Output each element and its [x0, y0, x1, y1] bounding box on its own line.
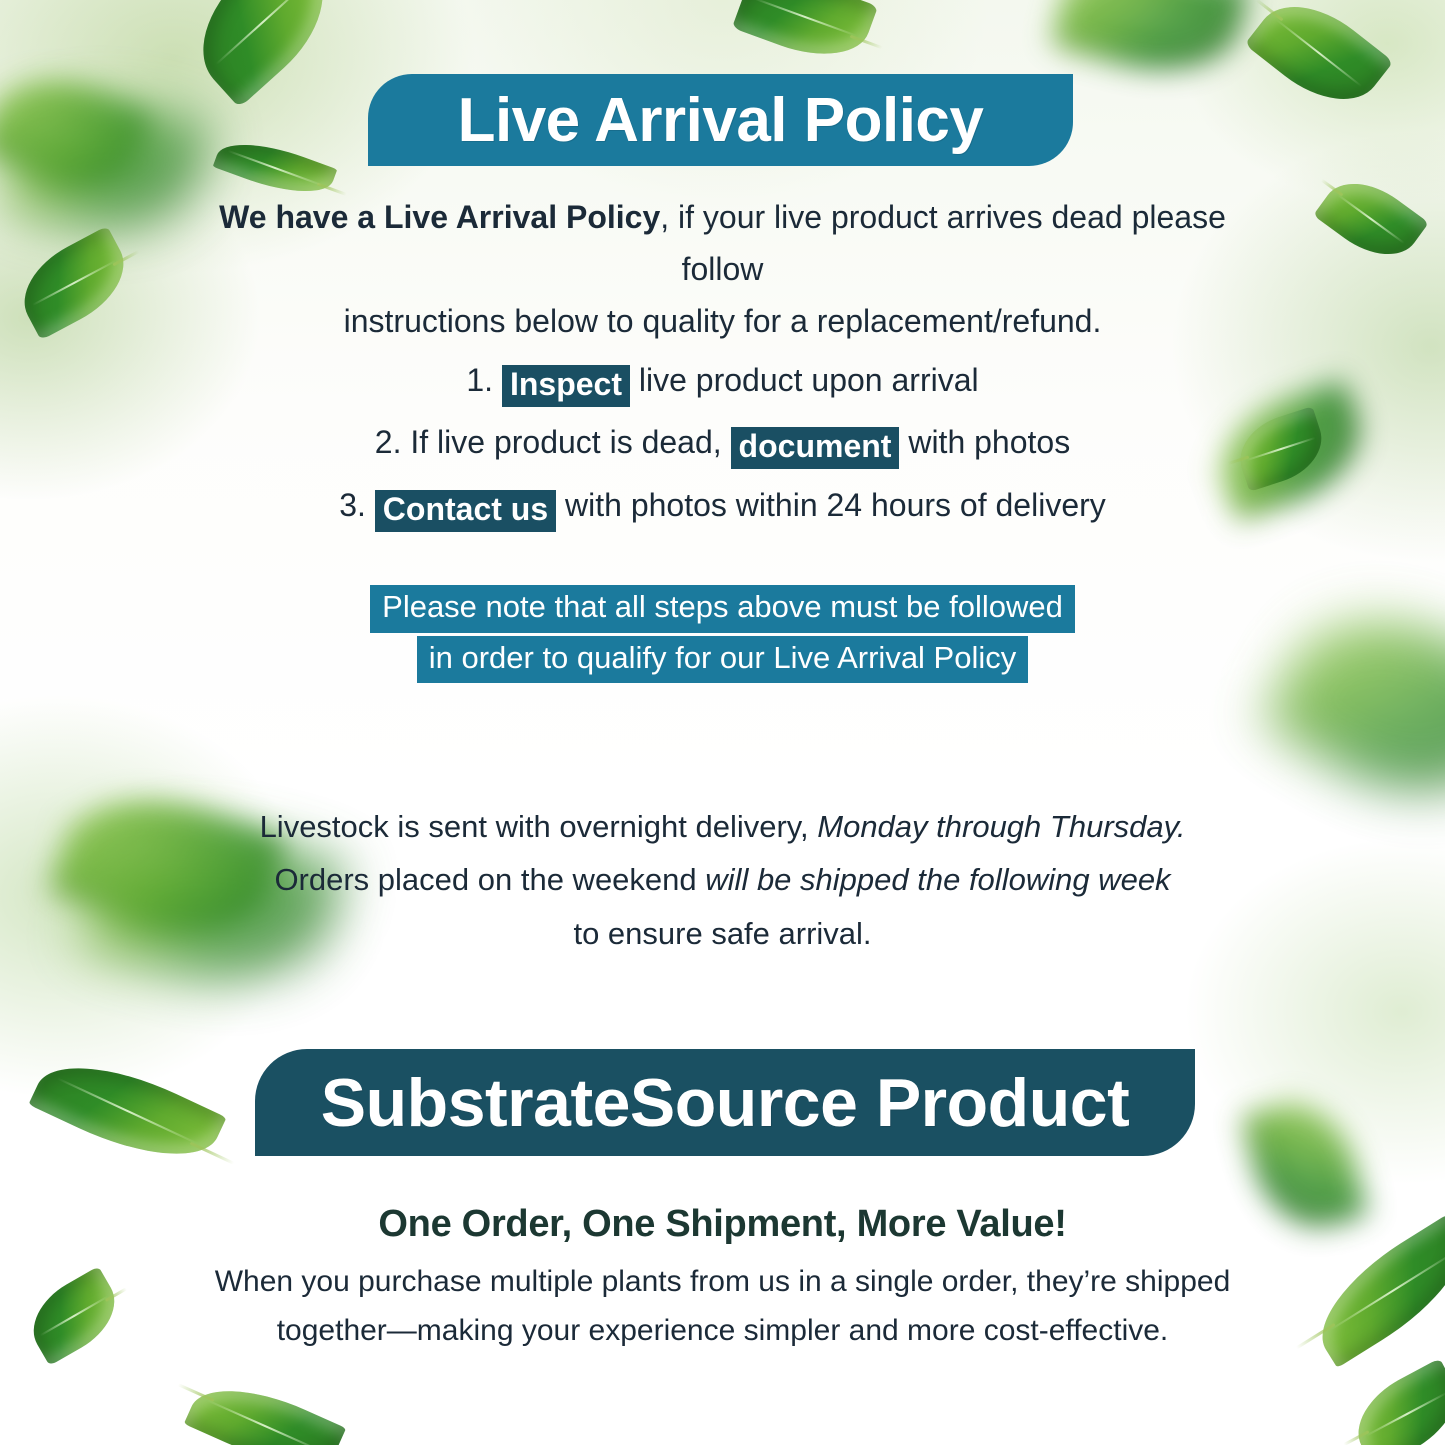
livestock-line-2-text: Orders placed on the weekend [274, 862, 696, 897]
live-arrival-policy-banner: Live Arrival Policy [368, 74, 1073, 166]
livestock-line-1-italic: Monday through Thursday. [817, 809, 1185, 844]
livestock-line-1: Livestock is sent with overnight deliver… [215, 800, 1230, 853]
step-1-number: 1. [466, 362, 493, 398]
intro-line-1-rest: , if your live product arrives dead plea… [660, 199, 1226, 287]
promo-graphic: Live Arrival Policy We have a Live Arriv… [0, 0, 1445, 1445]
value-subheading: One Order, One Shipment, More Value! [0, 1194, 1445, 1256]
list-item: 3. Contact us with photos within 24 hour… [0, 474, 1445, 536]
livestock-line-1-text: Livestock is sent with overnight deliver… [260, 809, 809, 844]
step-2-before: If live product is dead, [410, 424, 721, 460]
step-3-number: 3. [339, 487, 366, 523]
intro-line-1: We have a Live Arrival Policy, if your l… [180, 192, 1265, 296]
note-line-2: in order to qualify for our Live Arrival… [417, 636, 1029, 684]
step-3-text: with photos within 24 hours of delivery [565, 487, 1106, 523]
substratesource-product-banner: SubstrateSource Product [255, 1049, 1195, 1156]
livestock-shipping-paragraph: Livestock is sent with overnight deliver… [0, 800, 1445, 960]
livestock-line-3: to ensure safe arrival. [215, 907, 1230, 960]
livestock-line-2-italic: will be shipped the following week [705, 862, 1170, 897]
closing-line-1: When you purchase multiple plants from u… [170, 1258, 1275, 1307]
list-item: 2. If live product is dead, document wit… [0, 411, 1445, 473]
step-3-highlight: Contact us [375, 490, 556, 532]
intro-paragraph: We have a Live Arrival Policy, if your l… [0, 192, 1445, 347]
steps-list: 1. Inspect live product upon arrival 2. … [0, 349, 1445, 536]
step-2-number: 2. [375, 424, 402, 460]
step-2-highlight: document [731, 427, 900, 469]
step-1-text: live product upon arrival [639, 362, 979, 398]
note-line-1: Please note that all steps above must be… [370, 585, 1075, 633]
step-2-text: with photos [908, 424, 1070, 460]
intro-bold-phrase: We have a Live Arrival Policy [219, 199, 660, 235]
closing-line-2: together—making your experience simpler … [170, 1307, 1275, 1356]
intro-line-2: instructions below to quality for a repl… [180, 296, 1265, 348]
livestock-line-2: Orders placed on the weekend will be shi… [215, 853, 1230, 906]
live-arrival-policy-title: Live Arrival Policy [458, 85, 984, 156]
substratesource-product-title: SubstrateSource Product [321, 1064, 1129, 1142]
step-1-highlight: Inspect [502, 365, 630, 407]
list-item: 1. Inspect live product upon arrival [0, 349, 1445, 411]
policy-note-callout: Please note that all steps above must be… [0, 582, 1445, 683]
closing-paragraph: When you purchase multiple plants from u… [0, 1258, 1445, 1355]
